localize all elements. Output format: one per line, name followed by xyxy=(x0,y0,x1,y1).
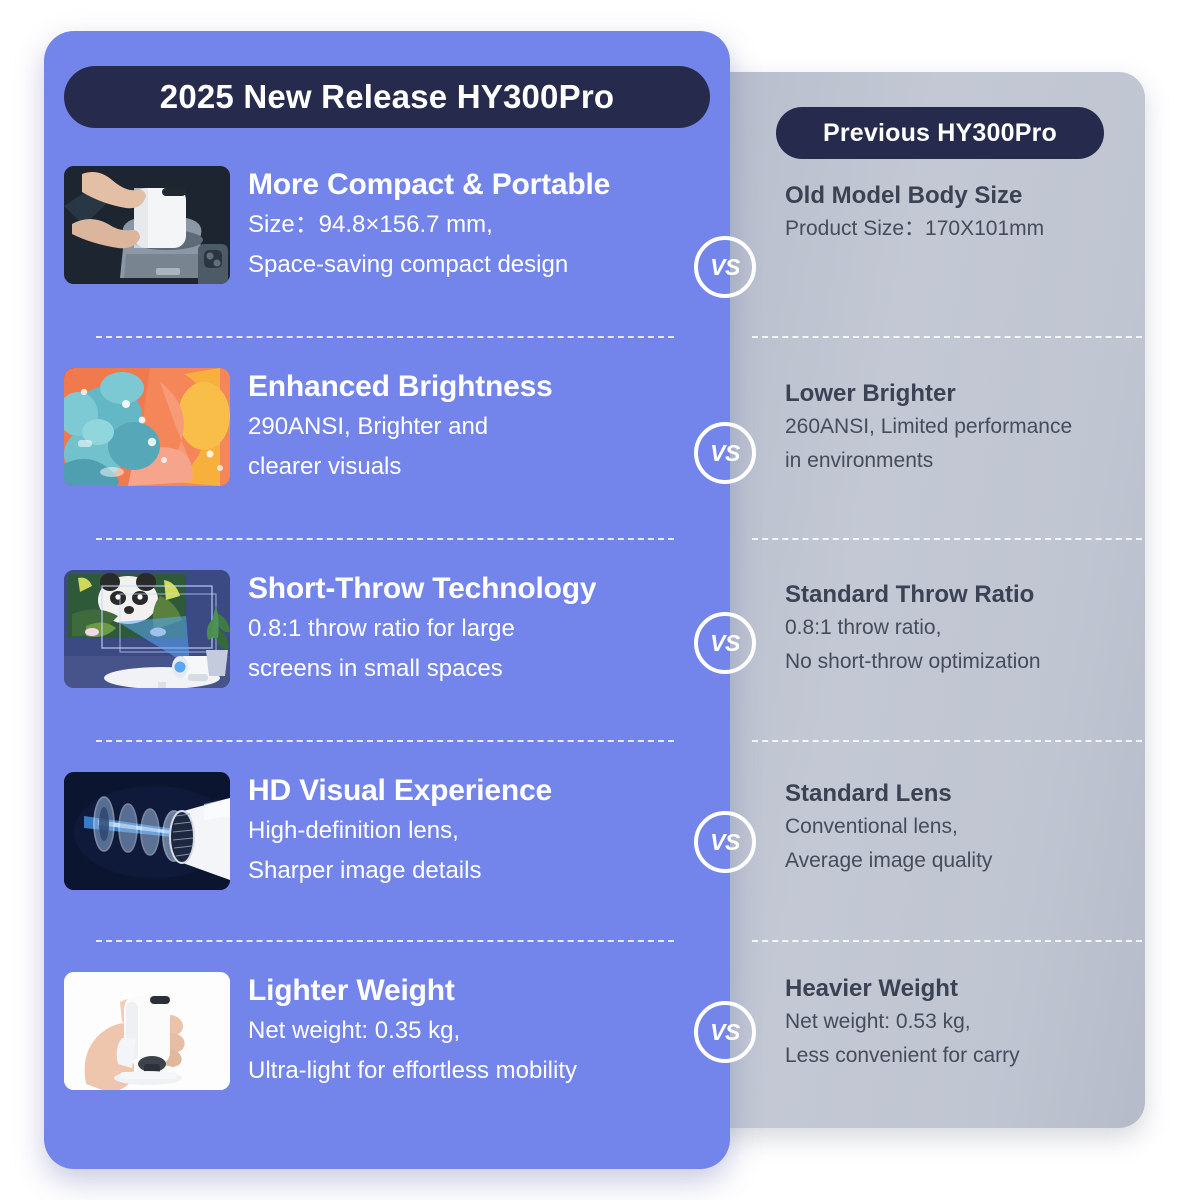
new-row-compact: More Compact & Portable Size：94.8×156.7 … xyxy=(64,166,684,284)
comparison-infographic: 2025 New Release HY300Pro Previous HY300… xyxy=(0,0,1200,1200)
new-row-desc-line1: Net weight: 0.35 kg, xyxy=(248,1013,577,1049)
projector-in-backpack-photo xyxy=(64,166,230,284)
projector-panda-projection-photo xyxy=(64,570,230,688)
new-row-desc-line1: High-definition lens, xyxy=(248,813,552,849)
old-row-brightness: Lower Brighter 260ANSI, Limited performa… xyxy=(785,380,1135,477)
divider-old-4 xyxy=(752,940,1142,942)
new-row-title: Lighter Weight xyxy=(248,974,577,1008)
new-row-short-throw-text: Short-Throw Technology 0.8:1 throw ratio… xyxy=(248,570,596,687)
old-row-weight: Heavier Weight Net weight: 0.53 kg, Less… xyxy=(785,975,1135,1072)
new-row-title: More Compact & Portable xyxy=(248,168,610,202)
new-row-desc-line1: Size：94.8×156.7 mm, xyxy=(248,207,610,243)
divider-new-4 xyxy=(96,940,674,942)
new-model-header-badge: 2025 New Release HY300Pro xyxy=(64,66,710,128)
new-row-desc-line2: Sharper image details xyxy=(248,853,552,889)
new-row-short-throw: Short-Throw Technology 0.8:1 throw ratio… xyxy=(64,570,684,688)
new-row-desc-line1: 290ANSI, Brighter and xyxy=(248,409,553,445)
divider-old-1 xyxy=(752,336,1142,338)
new-row-brightness: Enhanced Brightness 290ANSI, Brighter an… xyxy=(64,368,684,486)
old-row-lens: Standard Lens Conventional lens, Average… xyxy=(785,780,1135,877)
old-row-throw-ratio: Standard Throw Ratio 0.8:1 throw ratio, … xyxy=(785,581,1135,678)
previous-model-header-badge: Previous HY300Pro xyxy=(776,107,1104,159)
old-row-desc-line1: 260ANSI, Limited performance xyxy=(785,412,1135,443)
colorful-glossy-flowers-photo xyxy=(64,368,230,486)
old-row-desc-line1: Product Size：170X101mm xyxy=(785,214,1135,245)
new-row-lighter-weight-text: Lighter Weight Net weight: 0.35 kg, Ultr… xyxy=(248,972,577,1089)
hand-holding-projector-photo xyxy=(64,972,230,1090)
new-row-desc-line2: Space-saving compact design xyxy=(248,247,610,283)
new-row-desc-line2: screens in small spaces xyxy=(248,651,596,687)
vs-badge-2: VS xyxy=(694,422,756,484)
old-row-title: Standard Throw Ratio xyxy=(785,581,1135,609)
vs-label: VS xyxy=(710,829,740,856)
old-row-desc-line2: Average image quality xyxy=(785,846,1135,877)
vs-label: VS xyxy=(710,254,740,281)
new-row-desc-line2: Ultra-light for effortless mobility xyxy=(248,1053,577,1089)
vs-badge-3: VS xyxy=(694,612,756,674)
old-row-title: Heavier Weight xyxy=(785,975,1135,1003)
old-row-title: Old Model Body Size xyxy=(785,182,1135,210)
new-row-title: Enhanced Brightness xyxy=(248,370,553,404)
new-row-lighter-weight: Lighter Weight Net weight: 0.35 kg, Ultr… xyxy=(64,972,684,1090)
old-row-title: Standard Lens xyxy=(785,780,1135,808)
divider-old-3 xyxy=(752,740,1142,742)
vs-label: VS xyxy=(710,440,740,467)
previous-model-header-label: Previous HY300Pro xyxy=(823,119,1057,148)
new-row-desc-line2: clearer visuals xyxy=(248,449,553,485)
new-row-brightness-text: Enhanced Brightness 290ANSI, Brighter an… xyxy=(248,368,553,485)
new-row-hd-visual: HD Visual Experience High-definition len… xyxy=(64,772,684,890)
old-row-title: Lower Brighter xyxy=(785,380,1135,408)
old-row-desc-line1: 0.8:1 throw ratio, xyxy=(785,613,1135,644)
old-row-desc-line2: in environments xyxy=(785,446,1135,477)
divider-new-2 xyxy=(96,538,674,540)
new-row-title: HD Visual Experience xyxy=(248,774,552,808)
new-row-desc-line1: 0.8:1 throw ratio for large xyxy=(248,611,596,647)
new-row-title: Short-Throw Technology xyxy=(248,572,596,606)
old-row-desc-line2: Less convenient for carry xyxy=(785,1041,1135,1072)
old-row-desc-line1: Conventional lens, xyxy=(785,812,1135,843)
old-row-body-size: Old Model Body Size Product Size：170X101… xyxy=(785,182,1135,244)
new-model-header-label: 2025 New Release HY300Pro xyxy=(160,78,614,116)
divider-old-2 xyxy=(752,538,1142,540)
new-row-compact-text: More Compact & Portable Size：94.8×156.7 … xyxy=(248,166,610,283)
vs-badge-1: VS xyxy=(694,236,756,298)
old-row-desc-line1: Net weight: 0.53 kg, xyxy=(785,1007,1135,1038)
new-row-hd-visual-text: HD Visual Experience High-definition len… xyxy=(248,772,552,889)
divider-new-3 xyxy=(96,740,674,742)
vs-label: VS xyxy=(710,1019,740,1046)
vs-badge-4: VS xyxy=(694,811,756,873)
divider-new-1 xyxy=(96,336,674,338)
vs-label: VS xyxy=(710,630,740,657)
lens-exploded-view-photo xyxy=(64,772,230,890)
vs-badge-5: VS xyxy=(694,1001,756,1063)
old-row-desc-line2: No short-throw optimization xyxy=(785,647,1135,678)
